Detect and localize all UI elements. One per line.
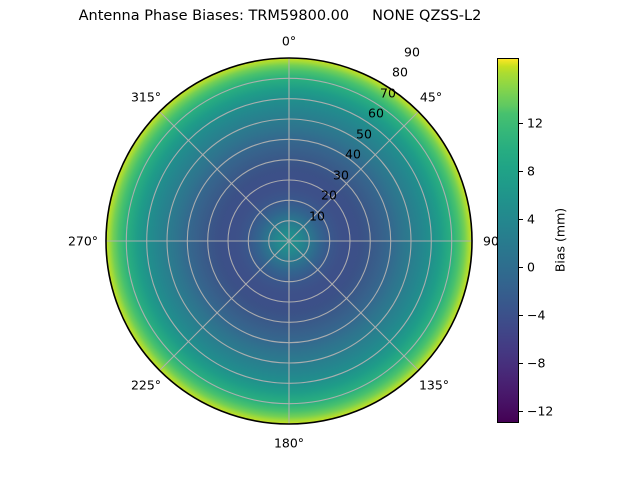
angle-tick-180: 180° <box>274 436 304 451</box>
colorbar-tick-line-12 <box>519 123 523 124</box>
colorbar-gradient <box>497 58 519 423</box>
radial-tick-60: 60 <box>368 106 384 121</box>
colorbar-tick-label-4: 4 <box>527 212 535 227</box>
colorbar-tick-line-0 <box>519 267 523 268</box>
colorbar-tick-line-m8 <box>519 363 523 364</box>
colorbar-tick-label-m4: −4 <box>527 308 545 323</box>
radial-tick-20: 20 <box>321 188 337 203</box>
colorbar-tick-label-0: 0 <box>527 260 535 275</box>
figure-canvas: Antenna Phase Biases: TRM59800.00 NONE Q… <box>0 0 640 480</box>
colorbar-tick-label-m8: −8 <box>527 356 545 371</box>
colorbar-axis-label: Bias (mm) <box>553 208 568 272</box>
angle-tick-135: 135° <box>419 378 449 393</box>
radial-tick-70: 70 <box>380 86 396 101</box>
colorbar-tick-line-m4 <box>519 315 523 316</box>
angle-tick-315: 315° <box>131 90 161 105</box>
radial-tick-40: 40 <box>345 147 361 162</box>
colorbar: 12 8 4 0 −4 −8 −12 <box>497 58 519 423</box>
colorbar-tick-label-m12: −12 <box>527 404 553 419</box>
colorbar-tick-line-m12 <box>519 411 523 412</box>
polar-axes: 0° 45° 90 135° 180° 225° 270° 315° 10 20… <box>105 57 473 425</box>
colorbar-tick-line-8 <box>519 171 523 172</box>
angle-tick-45: 45° <box>420 90 442 105</box>
page-title: Antenna Phase Biases: TRM59800.00 NONE Q… <box>0 8 560 24</box>
radial-tick-50: 50 <box>356 127 372 142</box>
polar-grid-spokes <box>106 58 472 424</box>
polar-plot-svg <box>105 57 473 425</box>
radial-tick-80: 80 <box>392 65 408 80</box>
colorbar-tick-label-12: 12 <box>527 116 543 131</box>
colorbar-tick-line-4 <box>519 219 523 220</box>
radial-tick-30: 30 <box>333 168 349 183</box>
radial-tick-10: 10 <box>309 209 325 224</box>
radial-tick-90: 90 <box>404 45 420 60</box>
angle-tick-0: 0° <box>282 34 296 49</box>
angle-tick-225: 225° <box>131 378 161 393</box>
angle-tick-270: 270° <box>68 234 98 249</box>
colorbar-tick-label-8: 8 <box>527 164 535 179</box>
